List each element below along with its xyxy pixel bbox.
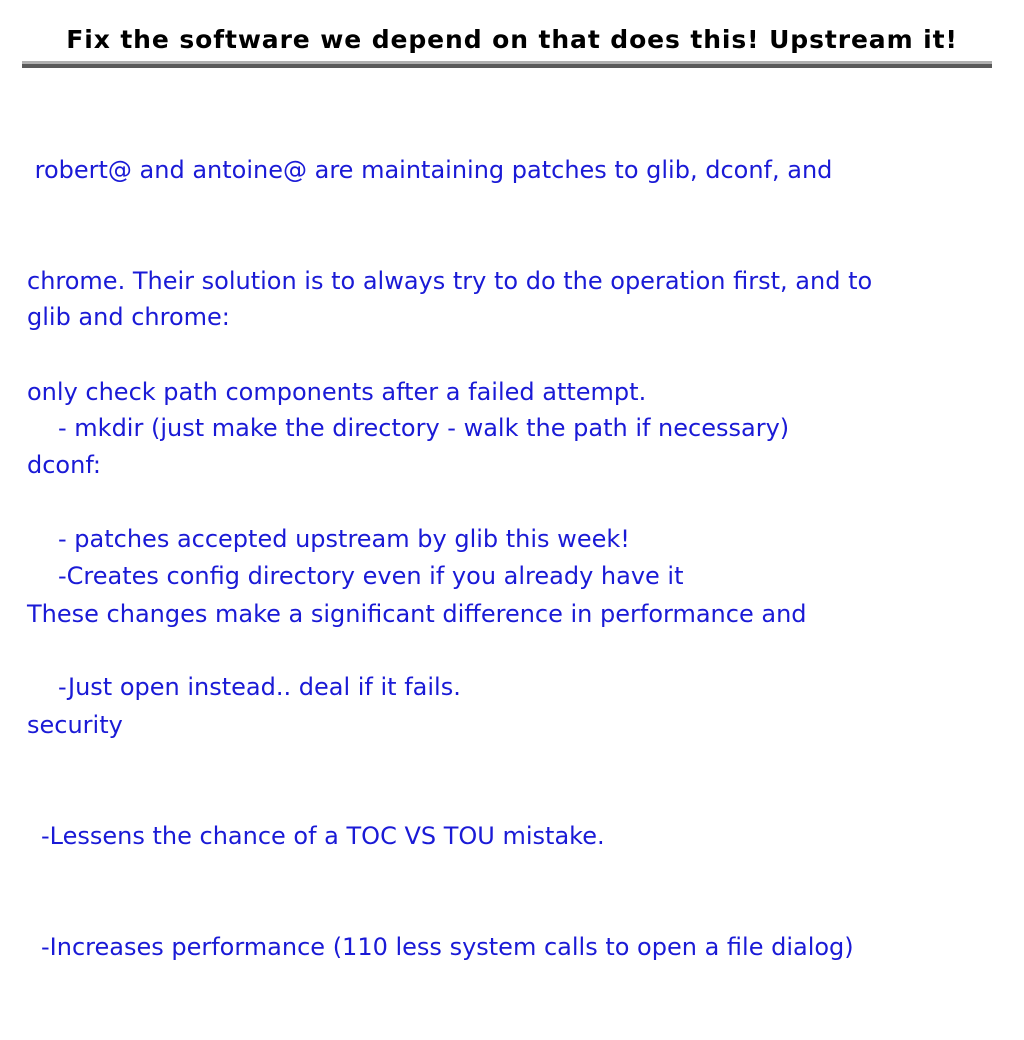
glib-heading: glib and chrome: bbox=[27, 299, 992, 336]
intro-line-1: robert@ and antoine@ are maintaining pat… bbox=[27, 152, 992, 189]
divider-band-dark bbox=[22, 64, 992, 68]
slide-title: Fix the software we depend on that does … bbox=[0, 24, 1024, 56]
dconf-heading: dconf: bbox=[27, 447, 992, 484]
results-line-2: security bbox=[27, 707, 992, 744]
results-bullet-2: -Increases performance (110 less system … bbox=[27, 929, 992, 966]
results-line-1: These changes make a significant differe… bbox=[27, 596, 992, 633]
results-bullet-1: -Lessens the chance of a TOC VS TOU mist… bbox=[27, 818, 992, 855]
title-divider-rule bbox=[22, 61, 992, 68]
results-paragraph: These changes make a significant differe… bbox=[27, 522, 992, 1040]
slide-canvas: Fix the software we depend on that does … bbox=[0, 0, 1024, 768]
